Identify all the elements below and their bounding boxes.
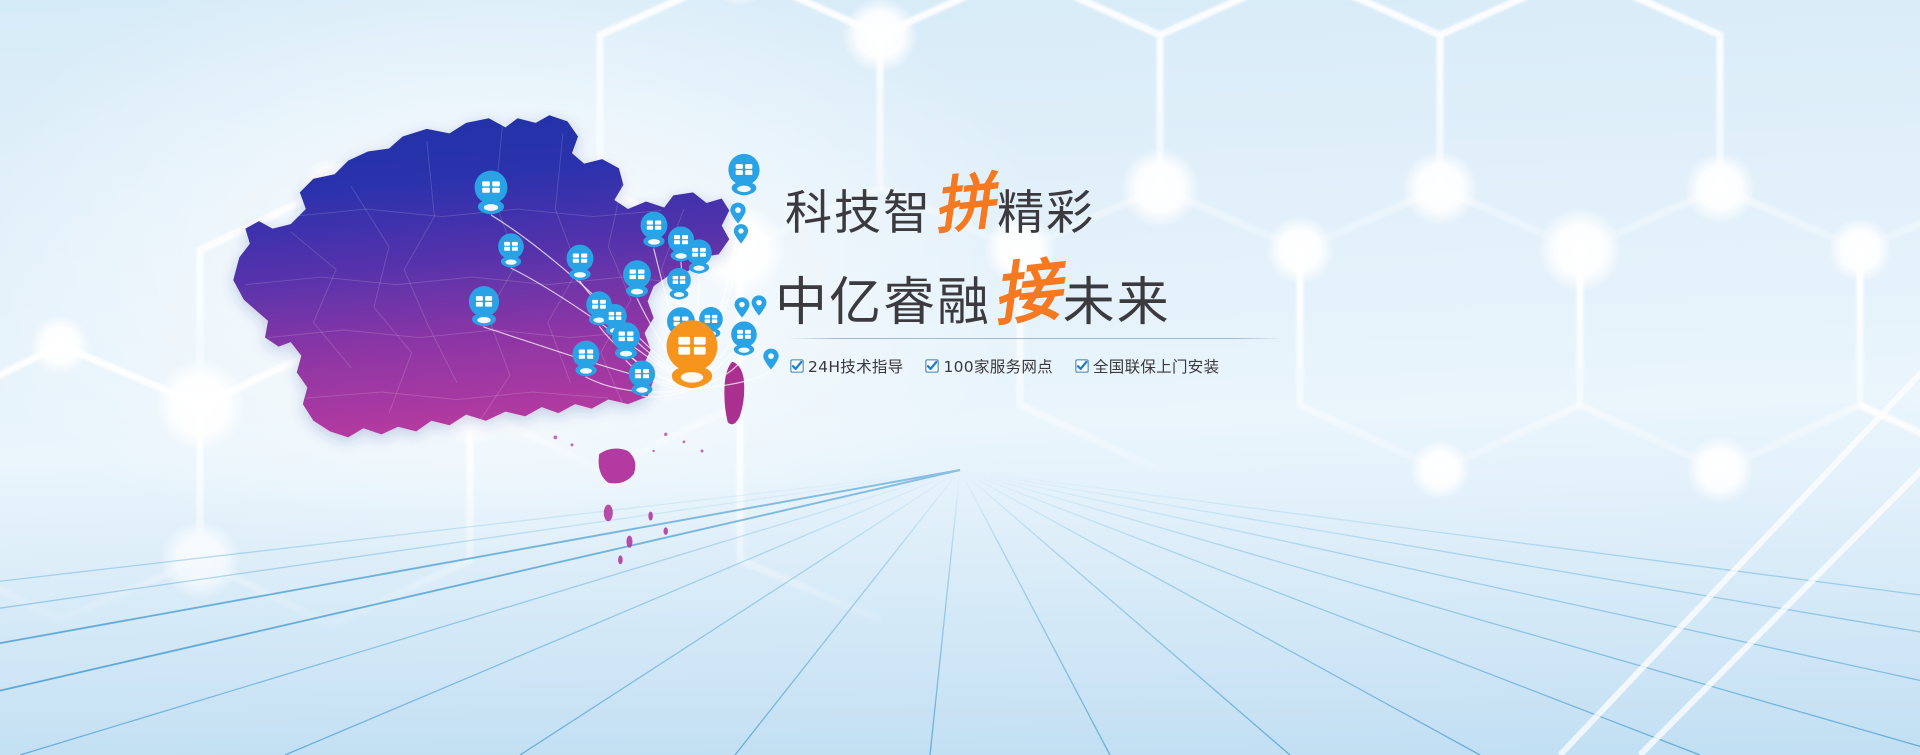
service-location-marker-11[interactable] — [623, 259, 652, 298]
headline-accent-2-1: 接 — [989, 256, 1063, 330]
service-location-marker-18[interactable] — [611, 321, 640, 360]
headline-line-1: 科技智拼精彩 — [775, 178, 1305, 239]
service-location-marker-1[interactable] — [474, 169, 508, 215]
taiwan-island — [724, 362, 744, 425]
service-location-marker-10[interactable] — [566, 243, 594, 281]
service-location-marker-12[interactable] — [666, 267, 690, 300]
service-location-marker-3[interactable] — [468, 285, 499, 327]
headline-text-1-2: 精彩 — [997, 186, 1095, 241]
check-icon — [1075, 359, 1089, 373]
china-service-network-map — [200, 30, 820, 630]
service-location-marker-22[interactable] — [751, 295, 767, 316]
feature-label-3: 全国联保上门安装 — [1093, 355, 1219, 377]
feature-item-3: 全国联保上门安装 — [1075, 355, 1219, 377]
service-location-marker-23[interactable] — [762, 348, 779, 370]
south-sea-islets — [604, 505, 668, 565]
headline-text-1-0: 科技智 — [785, 186, 932, 241]
headline-line-2: 中亿睿融接未来 — [775, 263, 1305, 331]
service-location-marker-20[interactable] — [628, 359, 655, 396]
headline-accent-1-1: 拼 — [931, 171, 998, 238]
headline-block: 科技智拼精彩 中亿睿融接未来 — [775, 178, 1305, 331]
banner-stage: 科技智拼精彩 中亿睿融接未来 24H技术指导100家服务网点全国联保上门安装 — [0, 0, 1920, 755]
headline-divider — [786, 338, 1284, 339]
feature-label-1: 24H技术指导 — [808, 355, 903, 377]
headline-text-2-0: 中亿睿融 — [775, 273, 991, 333]
feature-item-2: 100家服务网点 — [925, 355, 1053, 377]
service-location-marker-17[interactable] — [731, 320, 758, 356]
check-icon — [925, 359, 939, 373]
headline-text-2-2: 未来 — [1063, 273, 1171, 333]
feature-label-2: 100家服务网点 — [943, 355, 1053, 377]
service-location-marker-8[interactable] — [730, 202, 747, 224]
service-location-marker-7[interactable] — [727, 152, 759, 196]
hainan-island — [599, 449, 636, 484]
check-icon — [790, 359, 804, 373]
service-location-marker-2[interactable] — [498, 232, 525, 268]
feature-list: 24H技术指导100家服务网点全国联保上门安装 — [790, 355, 1310, 377]
service-location-marker-19[interactable] — [572, 339, 600, 377]
service-location-marker-21[interactable] — [734, 297, 750, 318]
feature-item-1: 24H技术指导 — [790, 355, 903, 377]
service-location-marker-4[interactable] — [640, 211, 668, 249]
service-location-marker-9[interactable] — [734, 223, 750, 243]
hub-marker[interactable] — [666, 318, 719, 389]
